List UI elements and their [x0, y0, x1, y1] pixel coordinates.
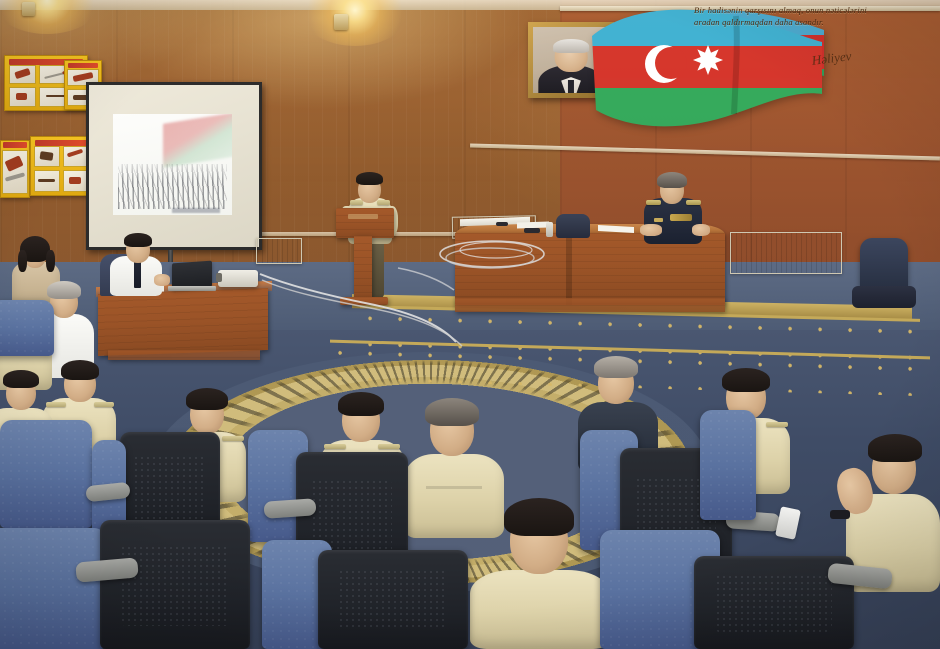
radiator-right	[730, 232, 842, 274]
wristwatch	[830, 510, 850, 519]
speaker-epaulette-right	[377, 200, 390, 205]
slide-caption	[172, 208, 220, 213]
audience-epaulette	[378, 444, 400, 449]
slide-crowd-graphic	[118, 164, 227, 208]
officer-hair	[657, 172, 687, 188]
poster-cell	[9, 65, 36, 85]
side-desk	[98, 288, 268, 356]
woman-hair-strand	[46, 250, 55, 272]
wall-sconce-center	[334, 14, 348, 30]
audience-hair	[504, 498, 574, 536]
audience-epaulette	[94, 402, 114, 407]
projected-slide	[113, 114, 232, 214]
side-desk-base	[108, 350, 260, 360]
speaker-hair	[356, 172, 383, 185]
auditorium-seat-front[interactable]	[100, 520, 250, 649]
audience-hair	[47, 281, 81, 299]
lectern-top	[336, 208, 394, 238]
projector-lens	[216, 273, 222, 282]
audience-hair	[61, 360, 99, 380]
slide-flag-graphic	[163, 114, 232, 168]
officer-arm	[640, 224, 662, 236]
poster-cell	[34, 170, 60, 191]
audience-hair	[425, 398, 479, 426]
audience-hair	[868, 434, 922, 462]
shirt-crease	[426, 486, 482, 489]
office-chair-right-seat	[852, 286, 916, 308]
desk-nameplate	[496, 222, 508, 226]
auditorium-seat-side[interactable]	[700, 410, 756, 520]
poster-bottom-left	[0, 140, 30, 198]
officer-badge	[654, 218, 663, 222]
floor-cables-coil	[412, 228, 572, 288]
poster-cell	[63, 170, 89, 191]
officer-arm	[692, 224, 710, 236]
audience-hair	[722, 368, 770, 392]
audience-hair	[186, 388, 228, 410]
woman-hair-strand	[18, 250, 27, 272]
projection-screen	[86, 82, 262, 250]
audience-epaulette	[766, 422, 788, 427]
projection-screen-surface	[89, 85, 259, 247]
technician-hair	[124, 233, 152, 247]
poster-cell	[2, 150, 27, 194]
lectern-emblem	[348, 214, 378, 219]
audience-hair	[3, 370, 39, 388]
audience-epaulette	[324, 444, 346, 449]
speaker-epaulette-left	[350, 200, 363, 205]
laptop-keyboard[interactable]	[168, 286, 216, 291]
poster-bottom-right	[30, 136, 92, 196]
wall-sconce-left	[22, 2, 35, 16]
officer-epaulette-left	[646, 200, 661, 205]
technician-arm	[154, 274, 170, 286]
poster-cell	[34, 146, 60, 167]
meeting-room-photo: Bir hadisənin qarşısını almaq, onun nəti…	[0, 0, 940, 649]
seat-armrest	[263, 498, 316, 519]
poster-cell	[9, 87, 36, 107]
auditorium-seat-front[interactable]	[0, 528, 106, 649]
auditorium-seat[interactable]	[0, 420, 92, 528]
auditorium-seat[interactable]	[0, 300, 54, 356]
audience-hair	[338, 392, 384, 416]
officer-epaulette-right	[686, 200, 701, 205]
poster-cell	[63, 146, 89, 167]
audience-hair	[594, 356, 638, 378]
wall-quote: Bir hadisənin qarşısını almaq, onun nəti…	[694, 4, 888, 28]
officer-insignia	[670, 214, 692, 221]
auditorium-seat-front[interactable]	[318, 550, 468, 649]
officer-at-head-table	[640, 172, 708, 242]
av-technician	[108, 232, 170, 294]
audience-epaulette	[222, 436, 244, 441]
audience-torso	[470, 570, 610, 649]
